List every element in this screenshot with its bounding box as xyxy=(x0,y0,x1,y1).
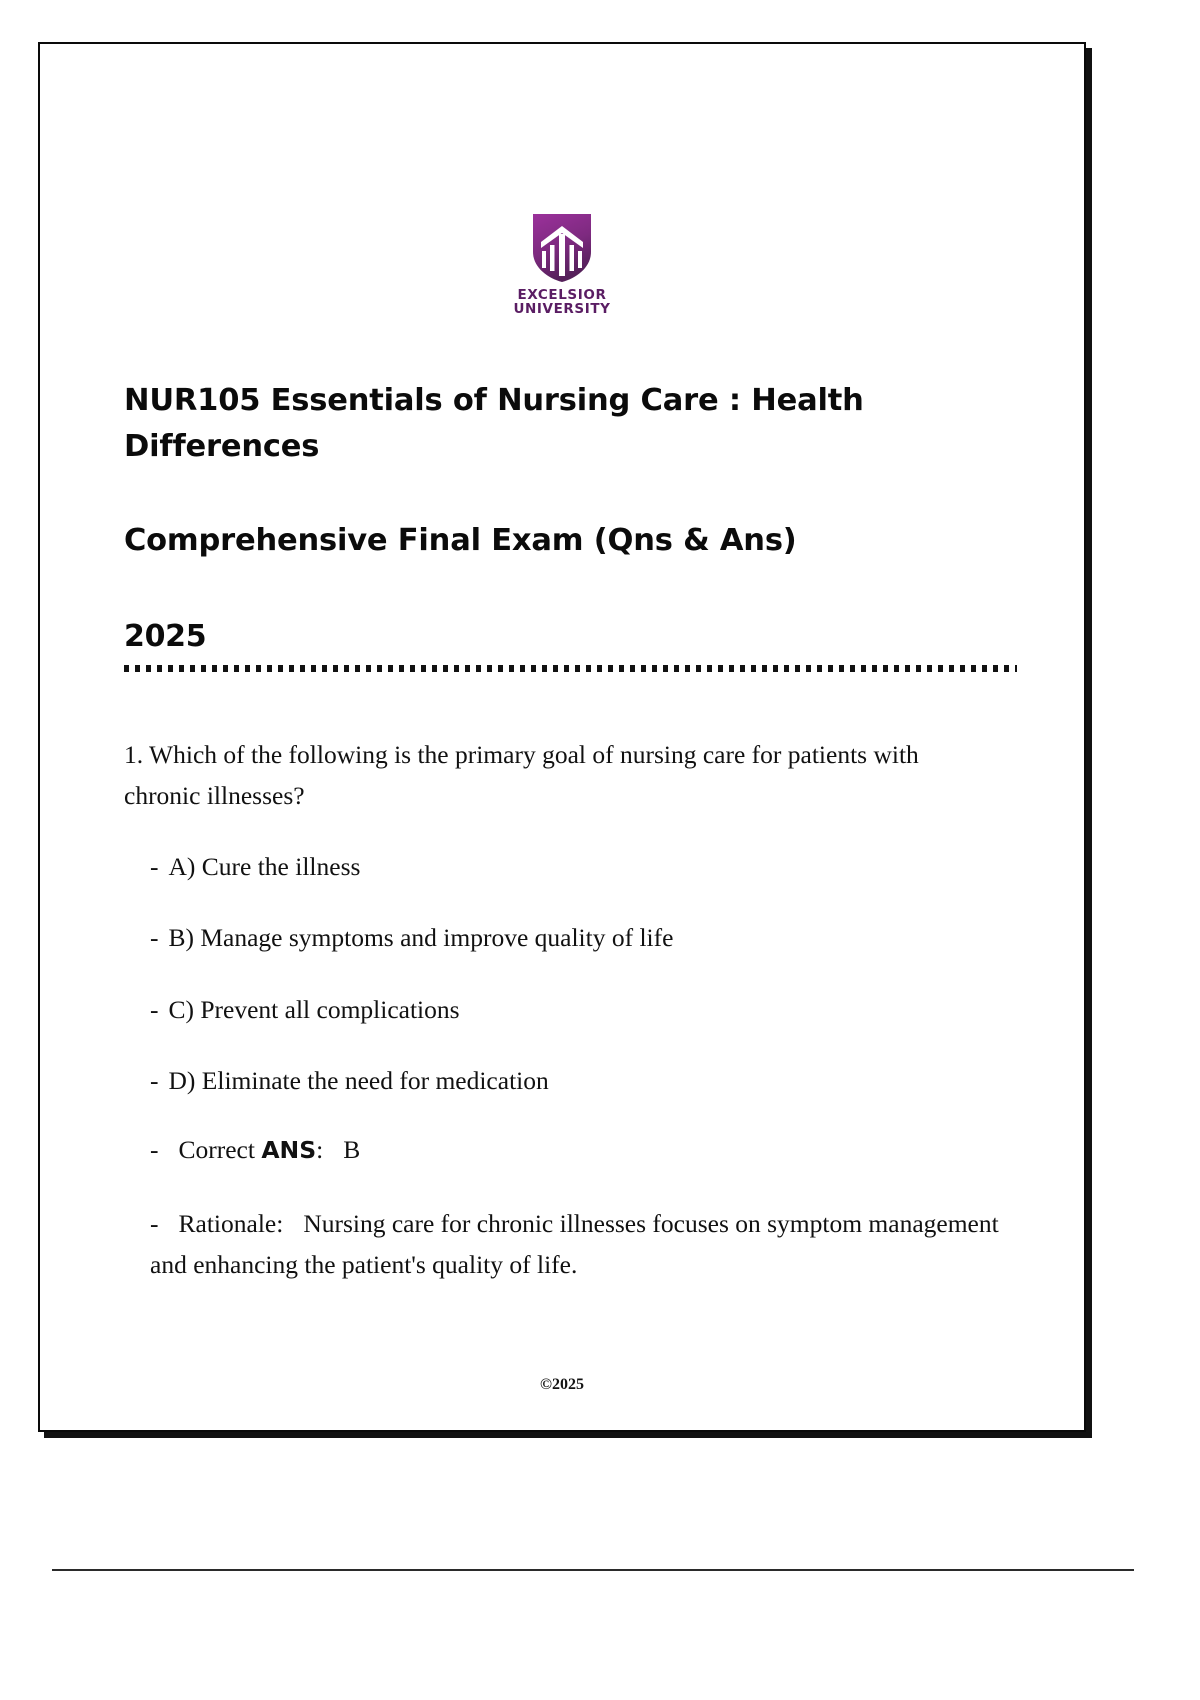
rationale-label: Rationale: xyxy=(179,1209,284,1238)
rationale-bullet: - xyxy=(150,1209,159,1238)
university-wordmark: EXCELSIOR UNIVERSITY xyxy=(502,288,622,316)
option-bullet: - xyxy=(150,1066,159,1095)
option-b-text: B) Manage symptoms and improve quality o… xyxy=(169,923,674,952)
answer-lead-label: Correct xyxy=(179,1135,255,1164)
option-c-text: C) Prevent all complications xyxy=(169,995,460,1024)
answer-bullet: - xyxy=(150,1135,159,1164)
document-subtitle: Comprehensive Final Exam (Qns & Ans) xyxy=(124,518,924,564)
next-page-separator xyxy=(52,1569,1134,1571)
document-page: EXCELSIOR UNIVERSITY NUR105 Essentials o… xyxy=(38,42,1086,1432)
rationale-row: -Rationale:Nursing care for chronic illn… xyxy=(124,1203,1000,1286)
dotted-divider xyxy=(124,665,1017,672)
document-title: NUR105 Essentials of Nursing Care : Heal… xyxy=(124,378,924,470)
option-d: -D) Eliminate the need for medication xyxy=(124,1060,1000,1101)
option-a-text: A) Cure the illness xyxy=(169,852,361,881)
option-c: -C) Prevent all complications xyxy=(124,989,1000,1030)
answer-colon: : xyxy=(316,1135,323,1164)
option-b: -B) Manage symptoms and improve quality … xyxy=(124,917,1000,958)
answer-value: B xyxy=(343,1135,360,1164)
page-footer-copyright: ©2025 xyxy=(40,1376,1084,1394)
page-content: EXCELSIOR UNIVERSITY NUR105 Essentials o… xyxy=(40,44,1084,1430)
correct-answer-row: -Correct ANS:B xyxy=(124,1129,1000,1170)
page-frame-shadow-right xyxy=(1086,48,1092,1438)
option-bullet: - xyxy=(150,852,159,881)
rationale-inline: -Rationale:Nursing care for chronic illn… xyxy=(124,1203,1000,1286)
document-year: 2025 xyxy=(124,614,924,659)
page-frame-shadow-bottom xyxy=(44,1432,1092,1438)
question-prompt: 1. Which of the following is the primary… xyxy=(124,734,996,817)
option-bullet: - xyxy=(150,923,159,952)
option-d-text: D) Eliminate the need for medication xyxy=(169,1066,549,1095)
university-logo: EXCELSIOR UNIVERSITY xyxy=(502,44,622,316)
answer-keyword: ANS xyxy=(261,1136,316,1164)
option-bullet: - xyxy=(150,995,159,1024)
excelsior-shield-logo xyxy=(531,212,593,284)
option-a: -A) Cure the illness xyxy=(124,846,1000,887)
